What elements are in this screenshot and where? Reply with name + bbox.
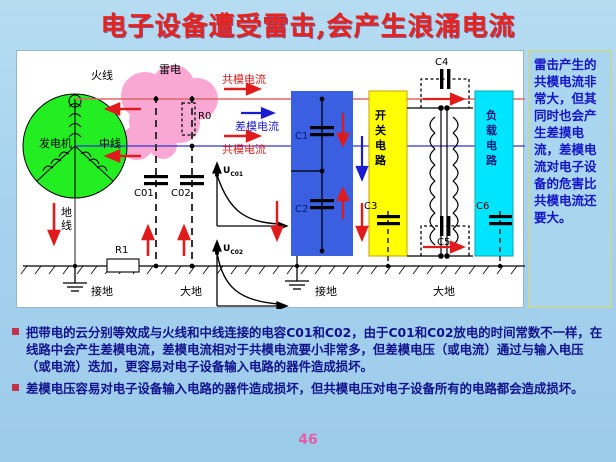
filter-differential-arrow xyxy=(357,136,367,179)
differential-mode-label: 差模电流 xyxy=(235,118,279,134)
differential-mode-arrow xyxy=(241,109,273,118)
c1-label: C1 xyxy=(295,131,308,142)
ground-current-arrow xyxy=(49,203,59,243)
c02-label: C02 xyxy=(171,188,191,199)
switch-circuit-label: 开关电路 xyxy=(375,108,389,168)
neutral-wire-label: 中线 xyxy=(99,135,121,151)
page-number: 46 xyxy=(0,432,616,448)
side-note-panel: 雷击产生的共模电流非常大，但其同时也会产生差摸电流，差模电流对电子设备的危害比共… xyxy=(528,50,612,308)
bullet-text: 把带电的云分别等效成与火线和中线连接的电容C01和C02，由于C01和C02放电… xyxy=(26,324,606,375)
c4-coupling-cap xyxy=(421,69,469,108)
ground-symbol-2 xyxy=(285,266,309,289)
live-wire-label: 火线 xyxy=(91,67,113,83)
earth-hatching xyxy=(21,266,517,274)
lightning-label: 雷电 xyxy=(159,61,181,77)
bullet-square-icon xyxy=(12,328,19,335)
r1-label: R1 xyxy=(115,245,128,256)
earth-ground-label-1: 接地 xyxy=(91,283,113,299)
ground-mass-label-1: 大地 xyxy=(180,283,202,299)
slide-root: 电子设备遭受雷击,会产生浪涌电流 xyxy=(0,0,616,462)
bullet-text: 差模电压容易对电子设备输入电路的器件造成损坏，但共模电压对电子设备所有的电路都会… xyxy=(26,380,584,397)
r0-label: R0 xyxy=(198,111,211,122)
generator-label: 发电机 xyxy=(39,135,72,151)
list-item: 把带电的云分别等效成与火线和中线连接的电容C01和C02，由于C01和C02放电… xyxy=(0,322,616,378)
c01-label: C01 xyxy=(134,188,154,199)
bullet-list: 把带电的云分别等效成与火线和中线连接的电容C01和C02，由于C01和C02放电… xyxy=(0,322,616,400)
c2-label: C2 xyxy=(295,204,308,215)
c4-arrow xyxy=(423,94,463,104)
load-circuit-label: 负载电路 xyxy=(486,108,500,168)
page-title: 电子设备遭受雷击,会产生浪涌电流 xyxy=(0,6,616,43)
c6-label: C6 xyxy=(476,201,489,212)
waveform-uc01-label: UC01 xyxy=(223,166,243,178)
r1-resistor xyxy=(107,259,139,272)
c3-label: C3 xyxy=(364,201,377,212)
earth-ground-label-2: 接地 xyxy=(315,283,337,299)
ground-wire-label: 地线 xyxy=(61,206,73,232)
c4-label: C4 xyxy=(435,57,448,68)
common-mode-top-label: 共模电流 xyxy=(222,71,266,87)
waveform-uc02-label: UC02 xyxy=(223,244,243,256)
circuit-schematic-svg xyxy=(17,51,525,309)
list-item: 差模电压容易对电子设备输入电路的器件造成损坏，但共模电压对电子设备所有的电路都会… xyxy=(0,378,616,400)
c5-coupling-cap xyxy=(421,216,469,256)
circuit-diagram-panel: 发电机 火线 中线 地线 雷电 R0 R1 C01 C02 共模电流 差模电流 … xyxy=(16,50,524,308)
filter-ground-arrow xyxy=(272,201,282,239)
common-mode-bottom-label: 共模电流 xyxy=(222,141,266,157)
ground-mass-label-2: 大地 xyxy=(433,283,455,299)
bullet-square-icon xyxy=(12,384,19,391)
c5-label: C5 xyxy=(437,237,450,248)
surge-up-arrows xyxy=(143,227,189,256)
